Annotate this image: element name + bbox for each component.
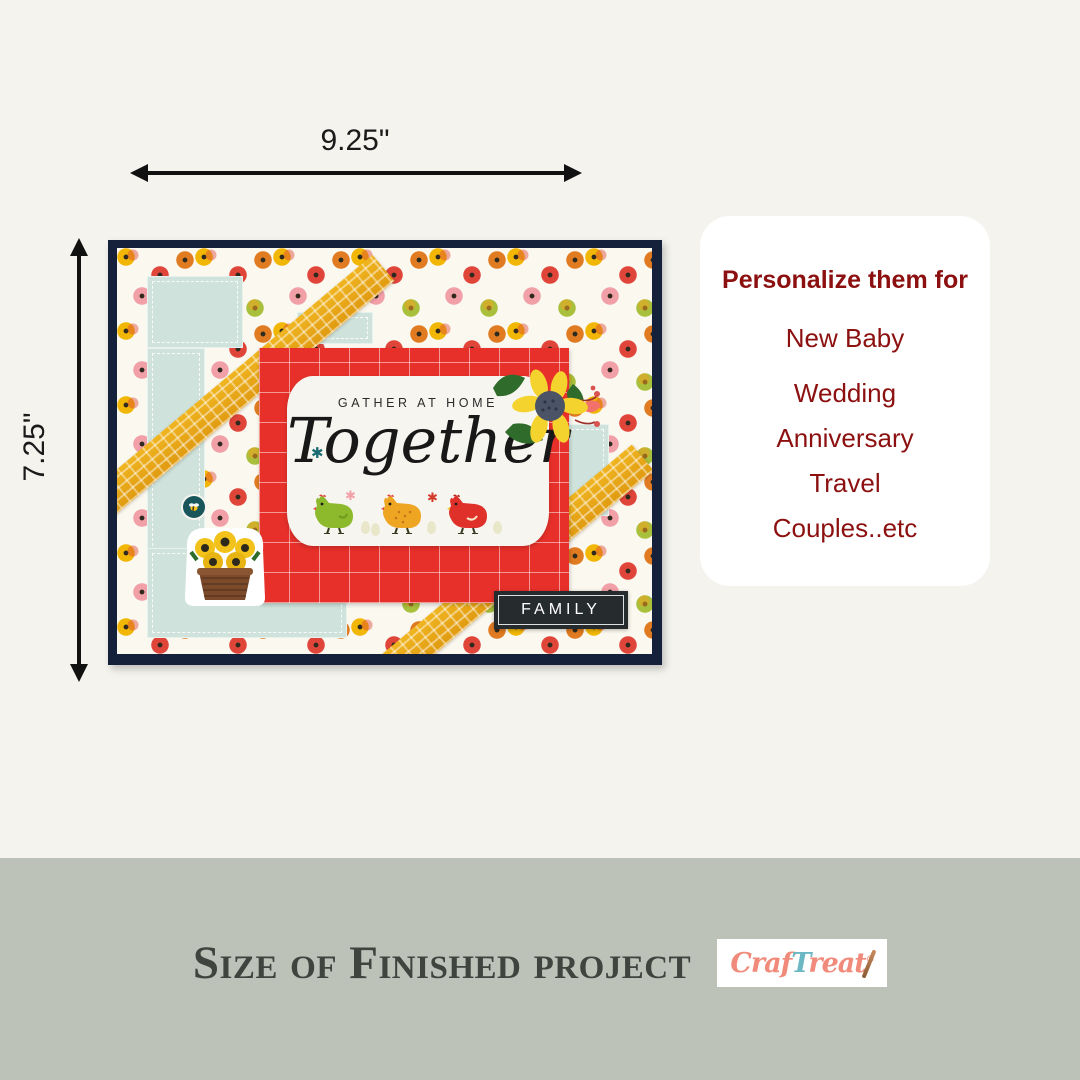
width-dimension-label: 9.25": [130, 124, 580, 158]
brand-logo: CrafTreat®: [717, 939, 887, 987]
logo-part-t: T: [791, 948, 808, 979]
family-tag-label: FAMILY: [521, 601, 601, 619]
panel-heading: Personalize them for: [722, 266, 968, 295]
footer-title: Size of Finished project: [193, 936, 691, 990]
panel-item-wedding: Wedding: [794, 378, 896, 409]
panel-item-travel: Travel: [809, 468, 880, 499]
egg-shape: [427, 521, 436, 534]
logo-part-reat: reat: [808, 948, 865, 979]
card-face: GATHER AT HOME Together ✱ ✱ ✱: [117, 248, 652, 654]
bee-icon: [187, 501, 201, 513]
chicken-icon: [313, 492, 357, 534]
card-preview[interactable]: GATHER AT HOME Together ✱ ✱ ✱: [108, 240, 662, 665]
width-dimension-arrow: [130, 160, 582, 186]
bee-badge-icon: [183, 496, 205, 518]
sunflower-cluster-sticker: [487, 366, 607, 466]
panel-item-couples: Couples..etc: [773, 513, 918, 544]
family-tag[interactable]: FAMILY: [494, 591, 628, 629]
asterisk-icon: ✱: [311, 444, 324, 462]
footer-band: Size of Finished project CrafTreat®: [0, 858, 1080, 1080]
panel-item-anniversary: Anniversary: [776, 423, 913, 454]
asterisk-icon: ✱: [427, 490, 438, 506]
height-dimension-arrow: [66, 238, 92, 682]
chicken-icon: [381, 492, 425, 534]
panel-item-new-baby: New Baby: [786, 323, 905, 354]
height-dimension-label: 7.25": [18, 382, 52, 512]
brand-logo-text: CrafTreat®: [730, 948, 873, 979]
personalization-panel: Personalize them for New Baby Wedding An…: [700, 216, 990, 586]
chicken-icon: [447, 492, 491, 534]
egg-shape: [493, 521, 502, 534]
mint-panel: [147, 276, 243, 348]
egg-shape: [361, 521, 370, 534]
logo-part-craf: Craf: [730, 948, 791, 979]
footer-content: Size of Finished project CrafTreat®: [0, 928, 1080, 998]
egg-shape: [371, 523, 380, 536]
sunflower-basket-sticker: [179, 520, 271, 608]
